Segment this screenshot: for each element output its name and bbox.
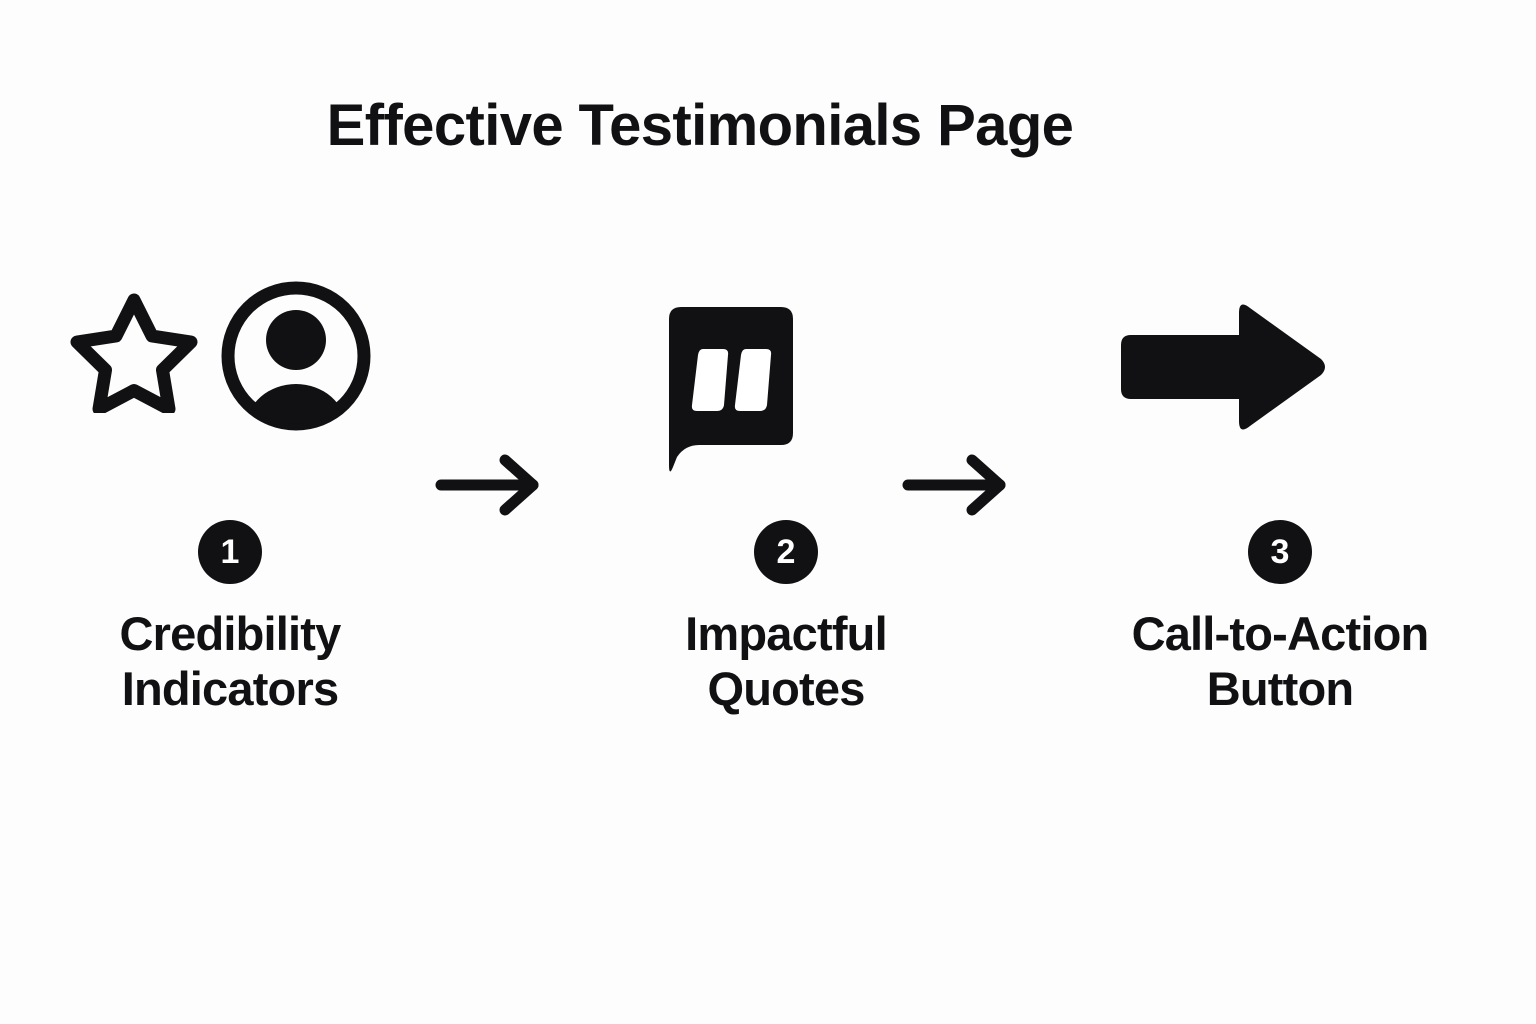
- connector-arrow-1: [433, 450, 553, 520]
- quote-bubble-icon: [651, 305, 811, 490]
- process-flow: 1 Credibility Indicators: [60, 270, 1460, 770]
- step-1-number: 1: [221, 535, 240, 569]
- step-3-label: Call-to-Action Button: [1060, 606, 1500, 717]
- step-2-label: Impactful Quotes: [616, 606, 956, 717]
- step-1-badge: 1: [198, 520, 262, 584]
- step-3-icon-group: [1060, 270, 1400, 500]
- step-2-badge: 2: [754, 520, 818, 584]
- step-3-number: 3: [1271, 535, 1290, 569]
- step-3-badge: 3: [1248, 520, 1312, 584]
- page-title: Effective Testimonials Page: [0, 96, 1400, 157]
- step-1-label: Credibility Indicators: [60, 606, 400, 717]
- flow-step-1: 1 Credibility Indicators: [60, 270, 400, 770]
- connector-arrow-2: [900, 450, 1020, 520]
- avatar-icon: [220, 280, 372, 432]
- step-2-number: 2: [777, 535, 796, 569]
- star-icon: [70, 288, 198, 413]
- block-arrow-right-icon: [1113, 297, 1329, 437]
- step-1-icon-group: [60, 270, 400, 500]
- flow-step-3: 3 Call-to-Action Button: [1060, 270, 1400, 770]
- diagram-canvas: Effective Testimonials Page: [0, 0, 1536, 1024]
